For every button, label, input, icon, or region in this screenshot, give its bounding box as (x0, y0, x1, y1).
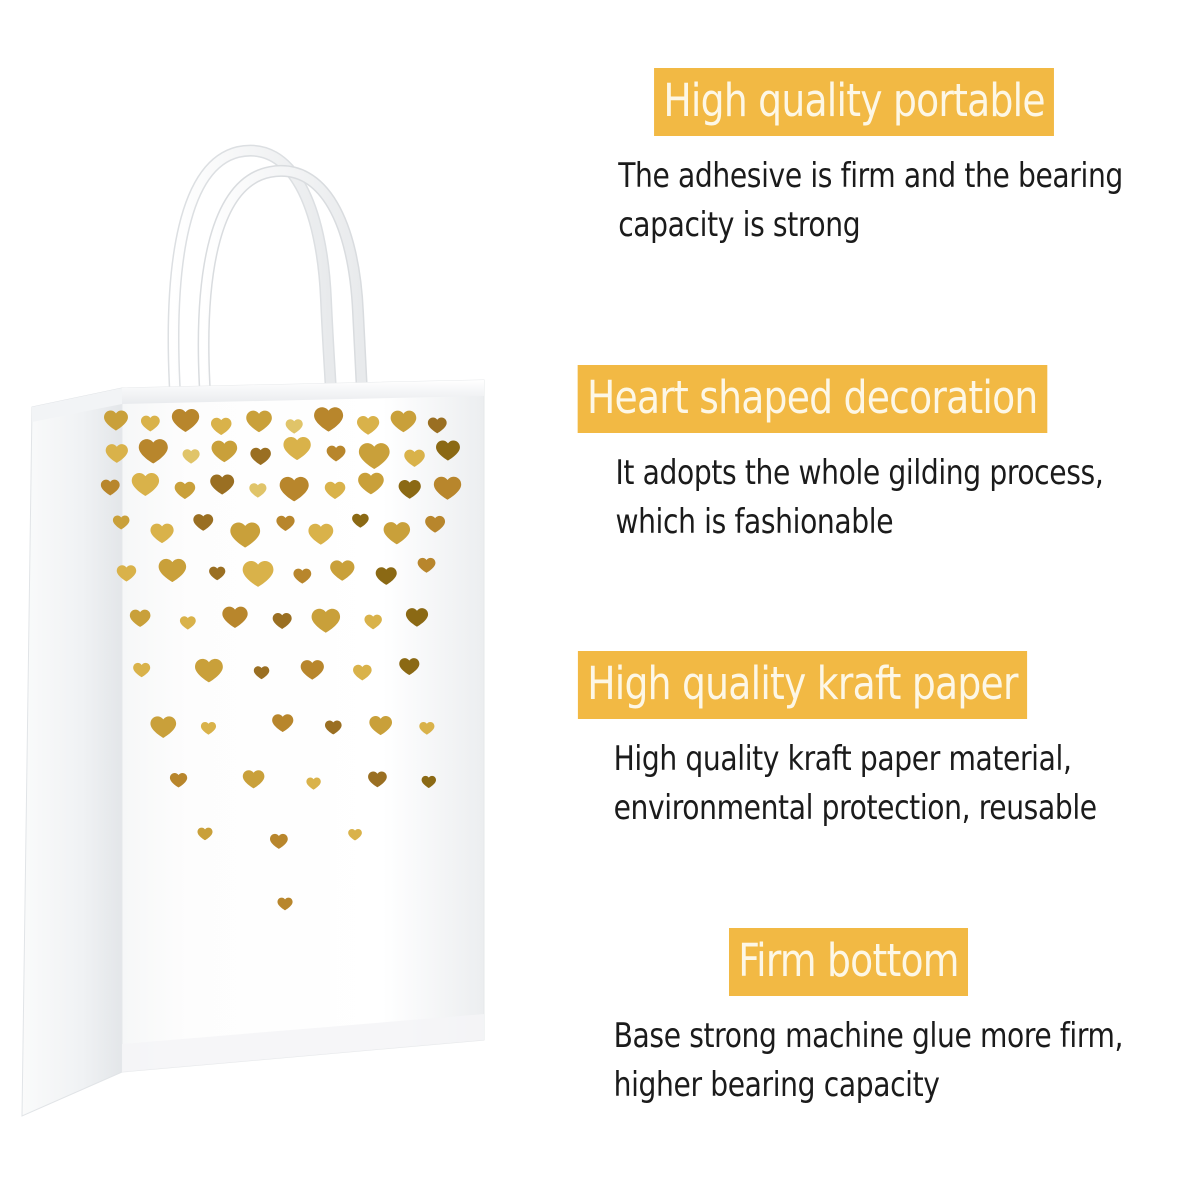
feature-block-high-quality-kraft-paper: High quality kraft paper High quality kr… (540, 651, 1200, 833)
feature-body-heart-shaped-decoration: It adopts the whole gilding process, whi… (540, 449, 1147, 547)
feature-body-firm-bottom: Base strong machine glue more firm, high… (540, 1012, 1147, 1110)
paper-bag-icon (0, 0, 540, 1200)
feature-heading-row: High quality portable (540, 68, 1200, 136)
feature-heading-firm-bottom: Firm bottom (729, 928, 968, 996)
feature-heading-row: High quality kraft paper (540, 651, 1200, 719)
feature-block-high-quality-portable: High quality portable The adhesive is fi… (540, 68, 1200, 250)
bag-handle-group (174, 151, 362, 392)
feature-list: High quality portable The adhesive is fi… (540, 0, 1200, 1200)
feature-body-high-quality-portable: The adhesive is firm and the bearing cap… (540, 152, 1147, 250)
feature-body-high-quality-kraft-paper: High quality kraft paper material, envir… (540, 735, 1147, 833)
product-image (0, 0, 540, 1200)
feature-block-firm-bottom: Firm bottom Base strong machine glue mor… (540, 928, 1200, 1110)
feature-heading-row: Firm bottom (540, 928, 1200, 996)
feature-heading-high-quality-portable: High quality portable (654, 68, 1054, 136)
bag-side-gusset (22, 388, 122, 1116)
feature-heading-heart-shaped-decoration: Heart shaped decoration (578, 365, 1047, 433)
product-infographic: High quality portable The adhesive is fi… (0, 0, 1200, 1200)
feature-heading-high-quality-kraft-paper: High quality kraft paper (578, 651, 1027, 719)
feature-heading-row: Heart shaped decoration (540, 365, 1200, 433)
feature-block-heart-shaped-decoration: Heart shaped decoration It adopts the wh… (540, 365, 1200, 547)
